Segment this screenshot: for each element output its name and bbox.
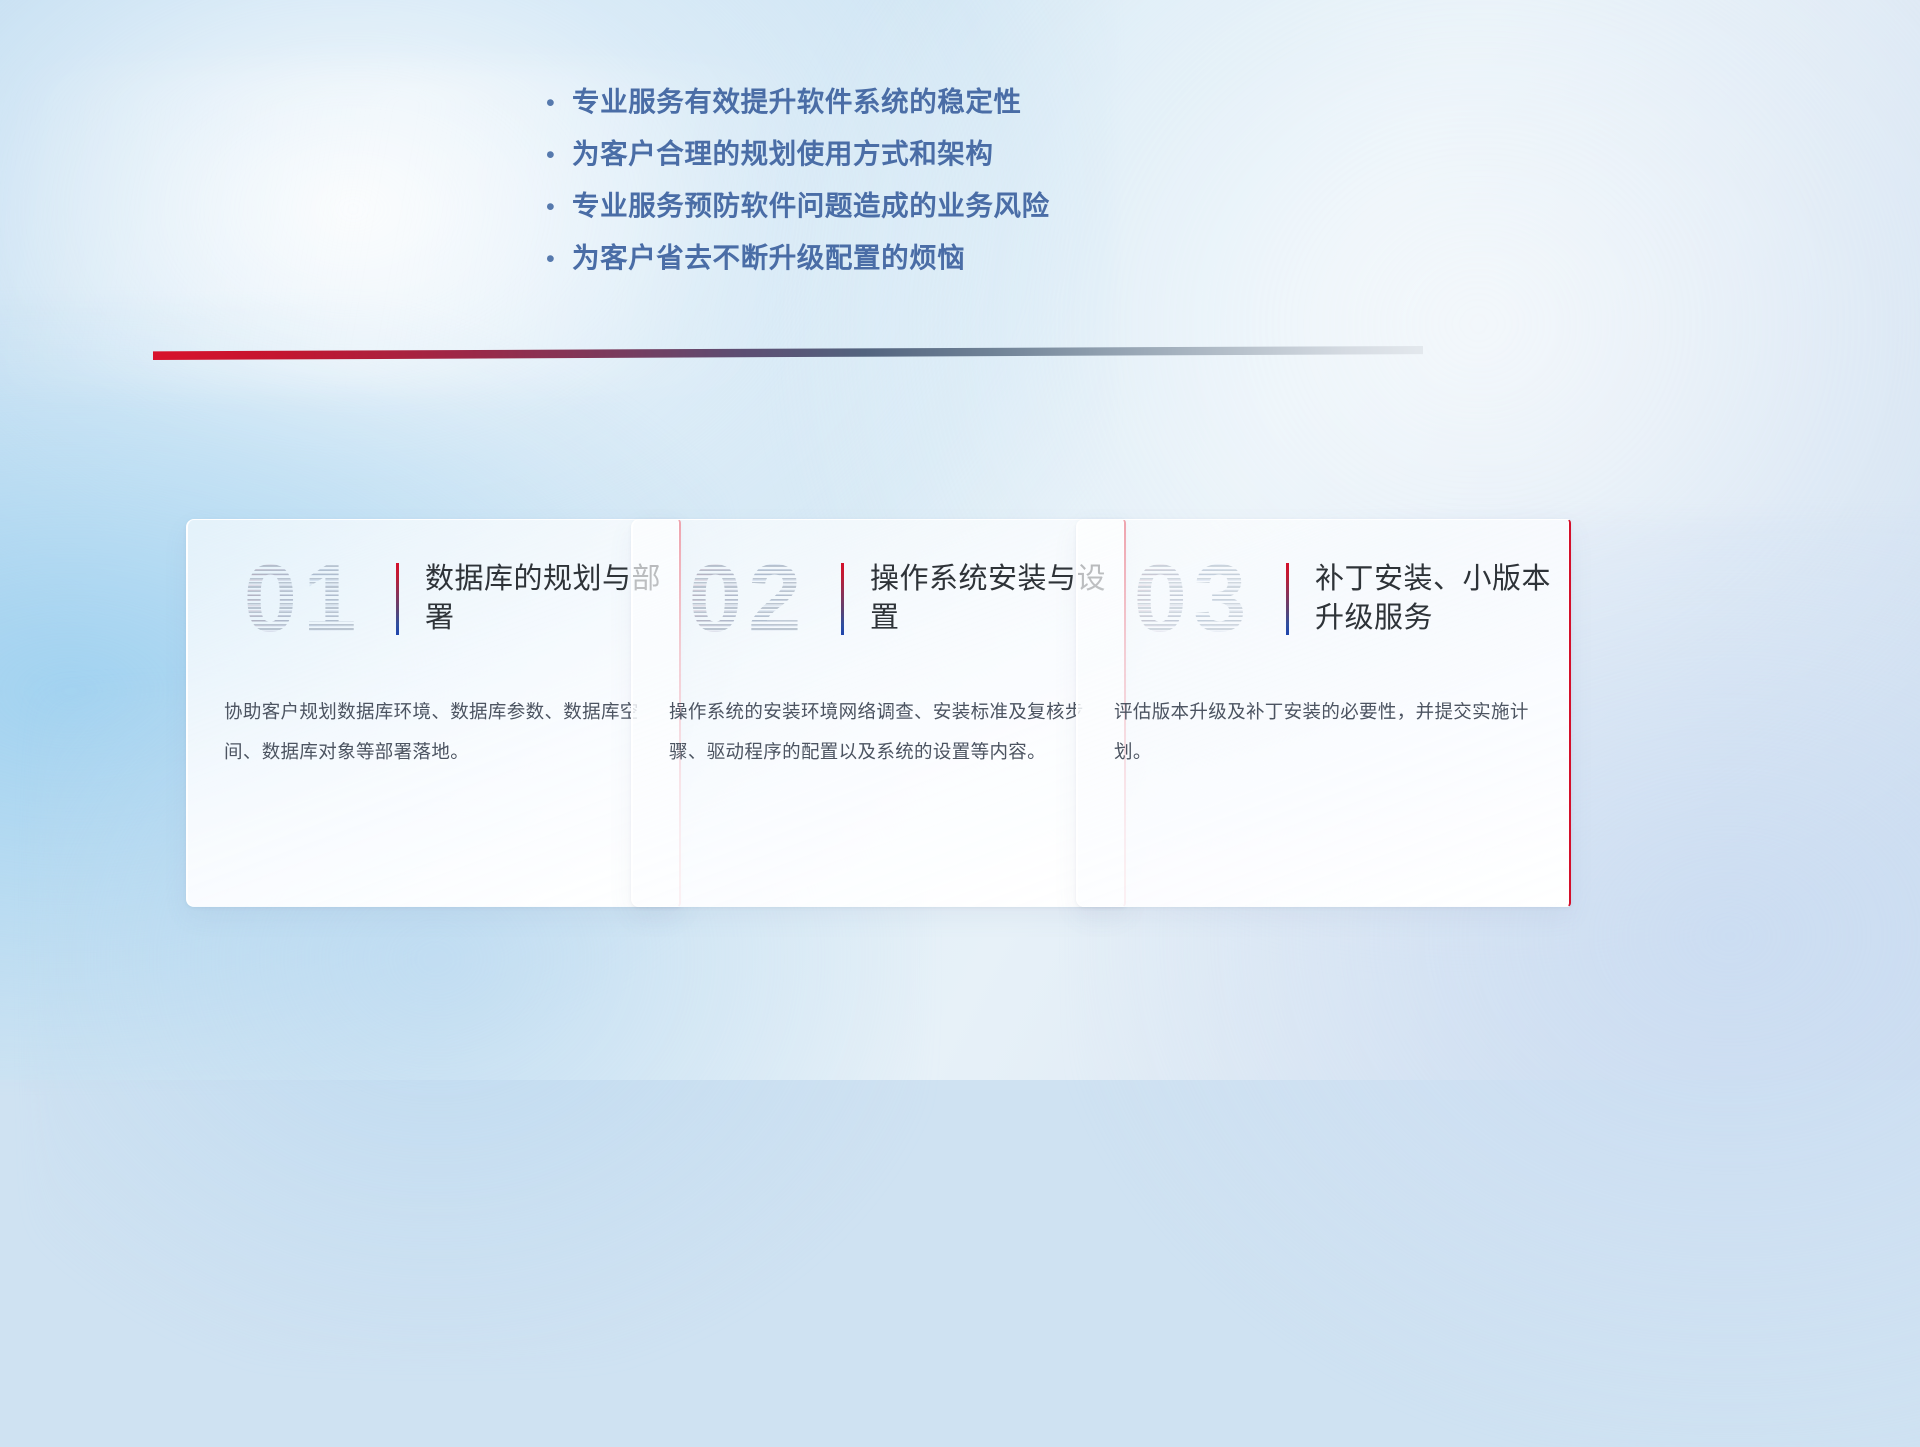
- service-card[interactable]: 01 01 数据库的规划与部署 协助客户规划数据库环境、数据库参数、数据库空间、…: [186, 519, 681, 907]
- bullet-dot-icon: •: [542, 247, 572, 272]
- card-number-tint: 01: [214, 540, 392, 658]
- divider-taper-shape: [153, 346, 1423, 360]
- card-title: 补丁安装、小版本升级服务: [1315, 560, 1569, 638]
- service-card-row: 01 01 数据库的规划与部署 协助客户规划数据库环境、数据库参数、数据库空间、…: [0, 519, 1920, 919]
- bullet-item: • 为客户省去不断升级配置的烦恼: [542, 244, 1262, 296]
- service-card[interactable]: 02 02 操作系统安装与设置 操作系统的安装环境网络调查、安装标准及复核步骤、…: [631, 519, 1126, 907]
- card-number-graphic: 03 03: [1104, 540, 1282, 658]
- bullet-dot-icon: •: [542, 143, 572, 168]
- bullet-item: • 为客户合理的规划使用方式和架构: [542, 140, 1262, 192]
- service-card[interactable]: 03 03 补丁安装、小版本升级服务 评估版本升级及补丁安装的必要性，并提交实施…: [1076, 519, 1571, 907]
- card-accent-rule: [396, 563, 399, 635]
- card-header: 01 01 数据库的规划与部署: [188, 520, 679, 678]
- card-body-text: 评估版本升级及补丁安装的必要性，并提交实施计划。: [1078, 692, 1569, 772]
- section-divider: [153, 346, 1423, 360]
- card-accent-rule: [841, 563, 844, 635]
- card-number-graphic: 01 01: [214, 540, 392, 658]
- bullet-text: 专业服务有效提升软件系统的稳定性: [572, 88, 1022, 116]
- card-accent-rule: [1286, 563, 1289, 635]
- bullet-item: • 专业服务有效提升软件系统的稳定性: [542, 88, 1262, 140]
- card-header: 03 03 补丁安装、小版本升级服务: [1078, 520, 1569, 678]
- bullet-dot-icon: •: [542, 195, 572, 220]
- bullet-dot-icon: •: [542, 91, 572, 116]
- card-body-text: 协助客户规划数据库环境、数据库参数、数据库空间、数据库对象等部署落地。: [188, 692, 679, 772]
- bullet-text: 为客户省去不断升级配置的烦恼: [572, 244, 965, 272]
- card-number-graphic: 02 02: [659, 540, 837, 658]
- bullet-text: 为客户合理的规划使用方式和架构: [572, 140, 994, 168]
- bullet-item: • 专业服务预防软件问题造成的业务风险: [542, 192, 1262, 244]
- card-number-tint: 03: [1104, 540, 1282, 658]
- bullet-text: 专业服务预防软件问题造成的业务风险: [572, 192, 1050, 220]
- card-body-text: 操作系统的安装环境网络调查、安装标准及复核步骤、驱动程序的配置以及系统的设置等内…: [633, 692, 1124, 772]
- benefits-bullet-list: • 专业服务有效提升软件系统的稳定性 • 为客户合理的规划使用方式和架构 • 专…: [542, 88, 1262, 296]
- card-header: 02 02 操作系统安装与设置: [633, 520, 1124, 678]
- card-number-tint: 02: [659, 540, 837, 658]
